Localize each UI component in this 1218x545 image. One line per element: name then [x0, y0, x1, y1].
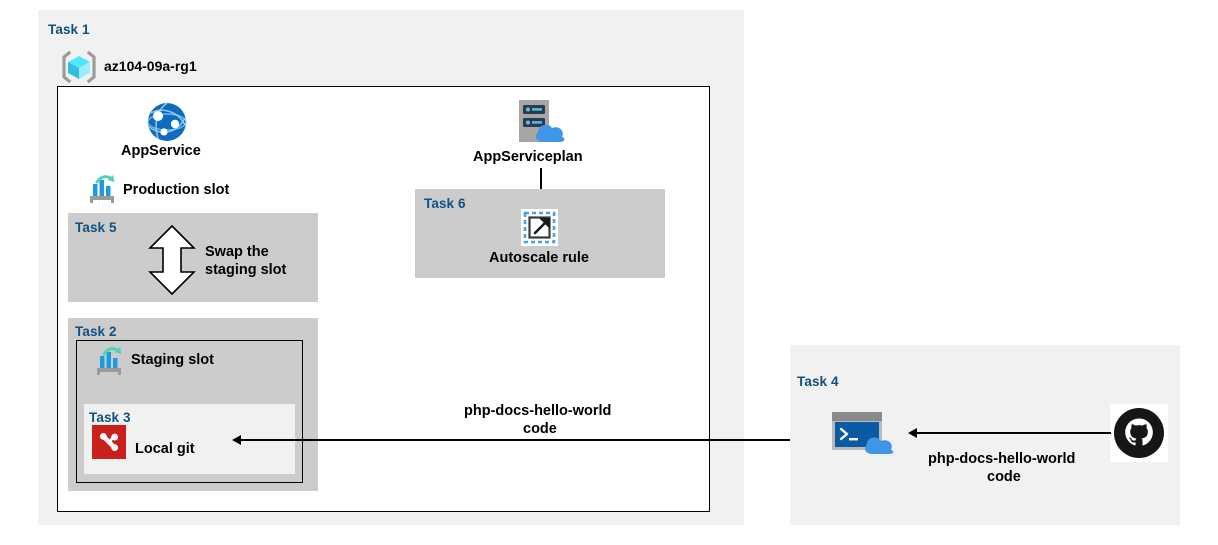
git-icon: [92, 425, 126, 459]
autoscale-rule-label: Autoscale rule: [489, 249, 589, 267]
cloudshell-to-localgit-arrow-line: [241, 439, 832, 441]
app-service-plan-label: AppServiceplan: [473, 148, 583, 166]
swap-double-arrow-icon: [145, 224, 199, 296]
resource-group-label: az104-09a-rg1: [104, 58, 197, 76]
resource-group-icon: [60, 50, 98, 84]
task4-label: Task 4: [797, 374, 839, 389]
task2-label: Task 2: [75, 324, 117, 339]
task5-label: Task 5: [75, 220, 117, 235]
deployment-slot-icon-production: [88, 174, 118, 204]
task6-label: Task 6: [424, 196, 466, 211]
app-service-icon: [146, 101, 188, 143]
production-slot-label: Production slot: [123, 181, 229, 199]
autoscale-icon: [521, 209, 558, 246]
task1-label: Task 1: [48, 22, 90, 37]
github-to-cloudshell-label-line1: php-docs-hello-world: [928, 450, 1075, 468]
github-to-cloudshell-arrow-head: [908, 428, 917, 438]
app-service-plan-icon: [513, 98, 569, 146]
local-git-label: Local git: [135, 440, 195, 458]
cloudshell-to-localgit-label-line2: code: [523, 420, 557, 438]
cloudshell-to-localgit-label-line1: php-docs-hello-world: [464, 402, 611, 420]
app-service-label: AppService: [121, 142, 201, 160]
swap-action-label-line1: Swap the: [205, 243, 269, 261]
swap-action-label-line2: staging slot: [205, 261, 286, 279]
github-icon: [1110, 404, 1168, 462]
github-to-cloudshell-arrow-line: [917, 432, 1111, 434]
deployment-slot-icon-staging: [95, 346, 125, 376]
staging-slot-label: Staging slot: [131, 351, 214, 369]
cloudshell-to-localgit-arrow-head: [232, 435, 241, 445]
cloud-shell-icon: [832, 412, 898, 456]
task3-label: Task 3: [89, 410, 131, 425]
github-to-cloudshell-label-line2: code: [987, 468, 1021, 486]
diagram-canvas: Task 1 az104-09a-rg1 AppService: [0, 0, 1218, 545]
